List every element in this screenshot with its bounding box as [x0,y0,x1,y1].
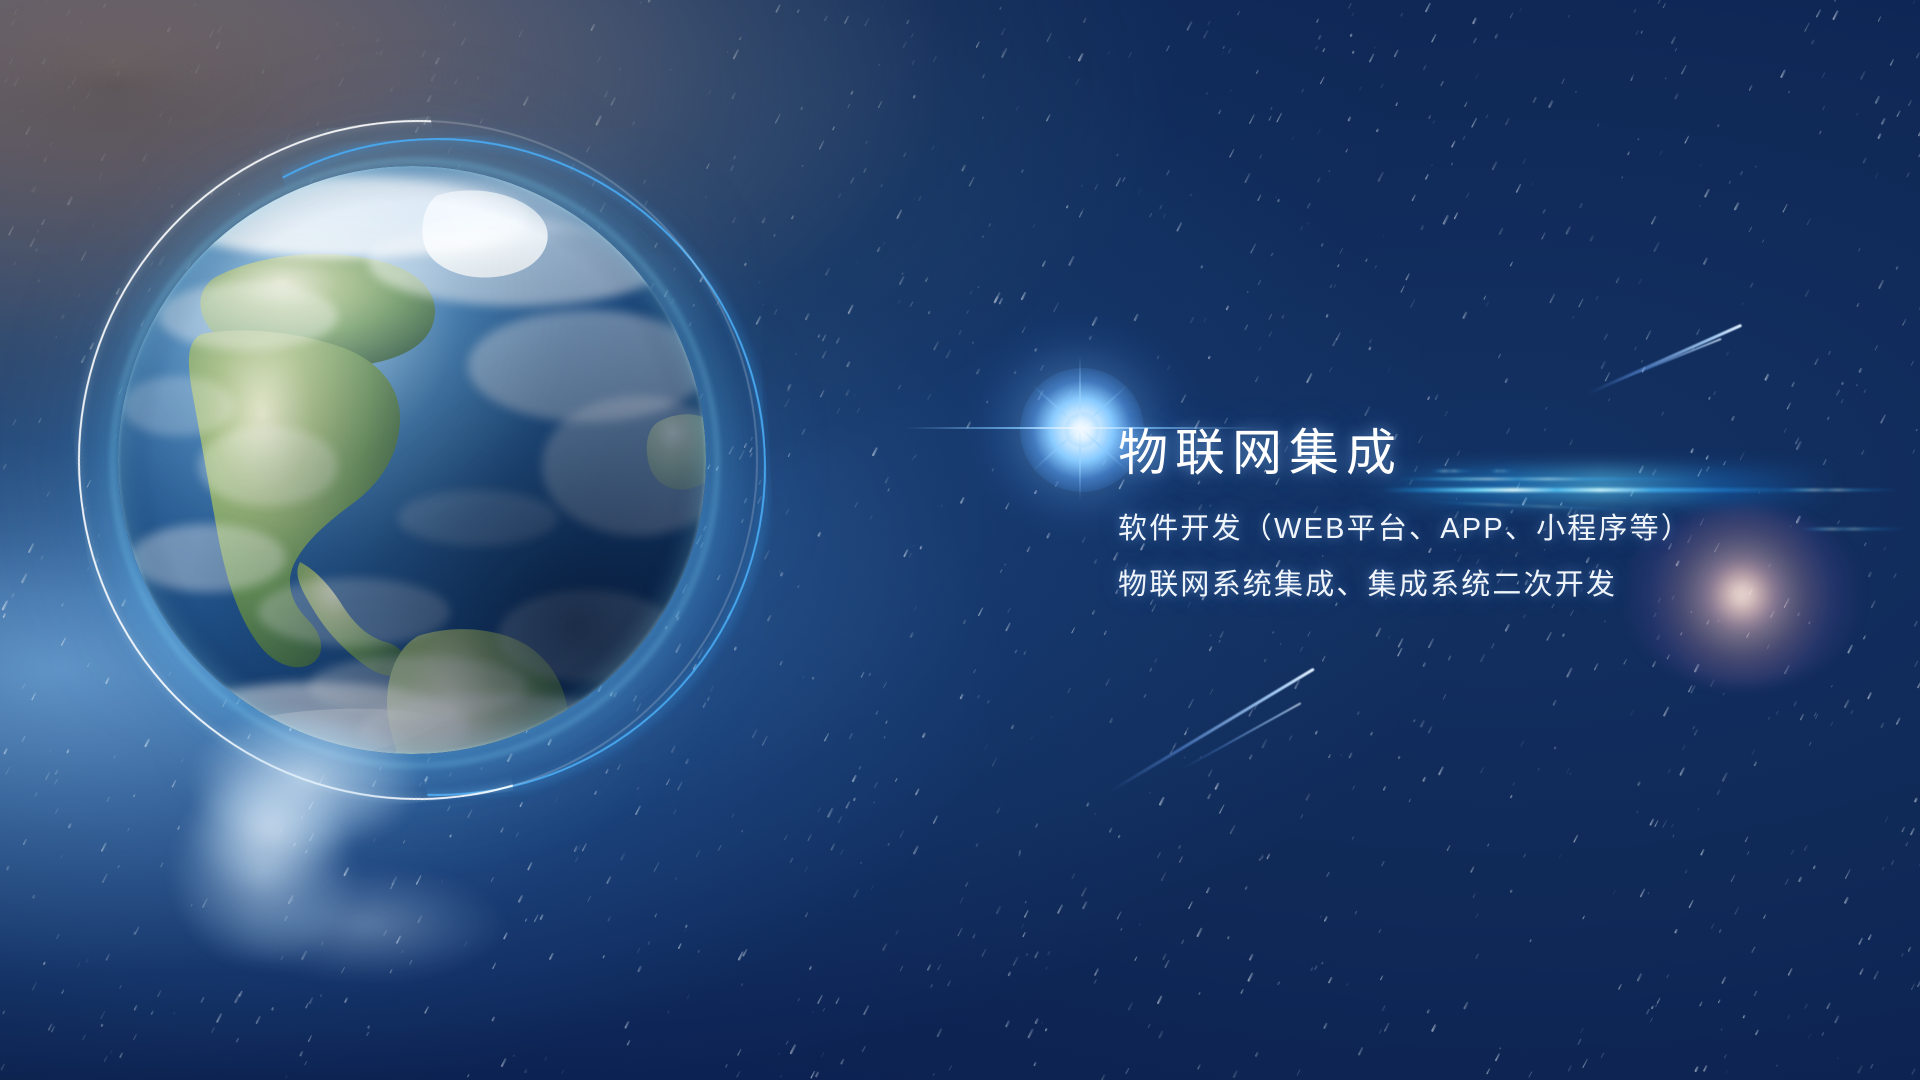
globe-rim-light [118,166,706,754]
earth-globe [118,166,706,754]
cloud-mist-highlight [150,735,450,965]
page-title: 物联网集成 [1118,424,1692,483]
hero-banner: 物联网集成 软件开发（WEB平台、APP、小程序等） 物联网系统集成、集成系统二… [0,0,1920,1080]
subtitle-line-2: 物联网系统集成、集成系统二次开发 [1118,571,1692,600]
banner-text-block: 物联网集成 软件开发（WEB平台、APP、小程序等） 物联网系统集成、集成系统二… [1118,424,1692,600]
subtitle-line-1: 软件开发（WEB平台、APP、小程序等） [1118,515,1692,544]
globe-sphere [118,166,706,754]
